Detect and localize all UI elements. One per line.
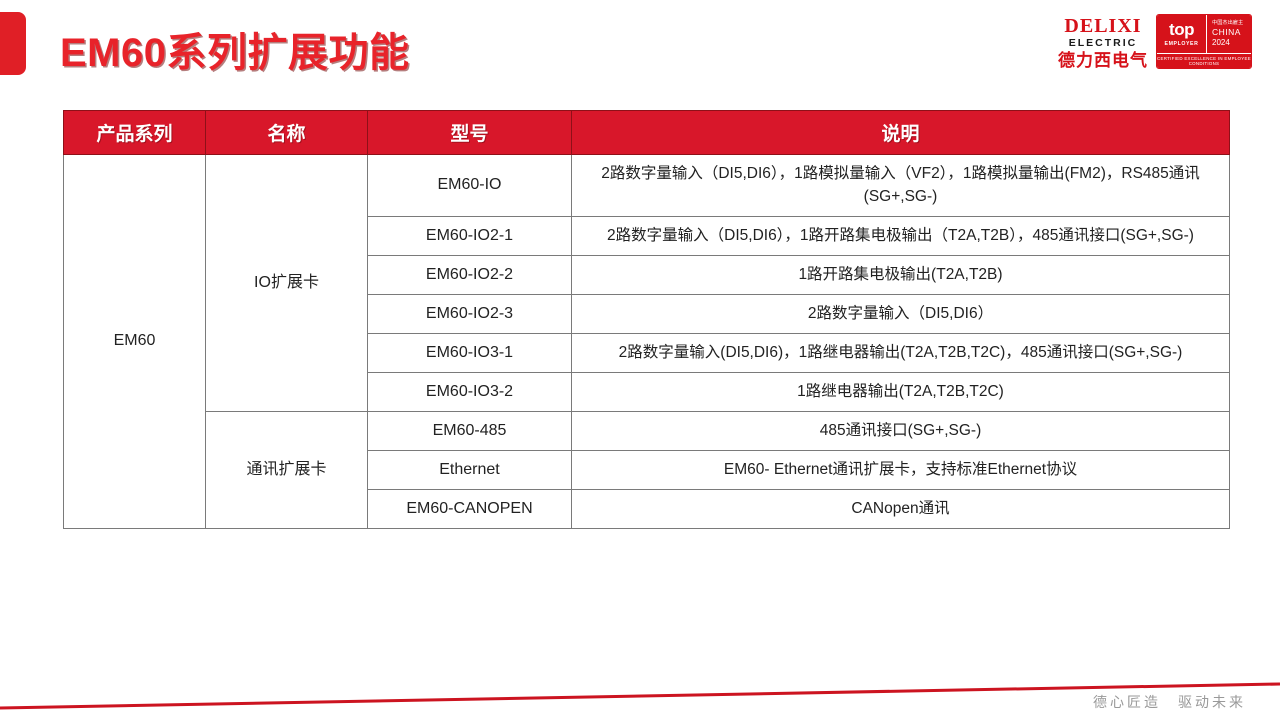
expansion-spec-table: 产品系列 名称 型号 说明 EM60 IO扩展卡 EM60-IO 2路数字量输入… (63, 110, 1230, 529)
cell-description: 485通讯接口(SG+,SG-) (572, 411, 1230, 450)
badge-year-label: 2024 (1212, 38, 1251, 48)
table-row: EM60 IO扩展卡 EM60-IO 2路数字量输入（DI5,DI6），1路模拟… (64, 155, 1230, 217)
column-header-name: 名称 (206, 111, 368, 155)
cell-model: EM60-CANOPEN (368, 489, 572, 528)
cell-description: CANopen通讯 (572, 489, 1230, 528)
cell-model: EM60-IO2-2 (368, 255, 572, 294)
cell-description: 2路数字量输入(DI5,DI6)，1路继电器输出(T2A,T2B,T2C)，48… (572, 333, 1230, 372)
table-head: 产品系列 名称 型号 说明 (64, 111, 1230, 155)
delixi-subtitle: ELECTRIC (1069, 38, 1138, 49)
cell-model: Ethernet (368, 450, 572, 489)
top-employer-badge: top EMPLOYER 中国杰出雇主 CHINA 2024 CERTIFIED… (1156, 14, 1252, 69)
cell-description: 1路开路集电极输出(T2A,T2B) (572, 255, 1230, 294)
table-header-row: 产品系列 名称 型号 说明 (64, 111, 1230, 155)
cell-description: 2路数字量输入（DI5,DI6），1路模拟量输入（VF2），1路模拟量输出(FM… (572, 155, 1230, 217)
delixi-wordmark: DELIXI (1064, 16, 1141, 36)
cell-description: 2路数字量输入（DI5,DI6） (572, 294, 1230, 333)
badge-left-panel: top EMPLOYER (1157, 15, 1207, 53)
badge-employer-label: EMPLOYER (1165, 41, 1199, 47)
title-accent-bar (0, 12, 26, 75)
cell-model: EM60-IO2-3 (368, 294, 572, 333)
cell-description: 1路继电器输出(T2A,T2B,T2C) (572, 372, 1230, 411)
slide-root: EM60系列扩展功能 DELIXI ELECTRIC 德力西电气 top EMP… (0, 0, 1280, 720)
page-title: EM60系列扩展功能 (60, 20, 410, 78)
badge-country-label: CHINA (1212, 27, 1251, 38)
column-header-desc: 说明 (572, 111, 1230, 155)
cell-model: EM60-IO3-1 (368, 333, 572, 372)
badge-top-word: top (1169, 21, 1194, 38)
cell-model: EM60-IO (368, 155, 572, 217)
cell-model: EM60-485 (368, 411, 572, 450)
cell-product-series: EM60 (64, 155, 206, 529)
badge-caption: CERTIFIED EXCELLENCE IN EMPLOYEE CONDITI… (1157, 53, 1251, 68)
cell-model: EM60-IO3-2 (368, 372, 572, 411)
table-row: 通讯扩展卡 EM60-485 485通讯接口(SG+,SG-) (64, 411, 1230, 450)
footer-slogan: 德心匠造 驱动未来 (1093, 692, 1246, 712)
table-body: EM60 IO扩展卡 EM60-IO 2路数字量输入（DI5,DI6），1路模拟… (64, 155, 1230, 529)
delixi-logo: DELIXI ELECTRIC 德力西电气 (1058, 14, 1148, 69)
cell-group-name-io: IO扩展卡 (206, 155, 368, 412)
column-header-series: 产品系列 (64, 111, 206, 155)
cell-description: EM60- Ethernet通讯扩展卡，支持标准Ethernet协议 (572, 450, 1230, 489)
badge-right-panel: 中国杰出雇主 CHINA 2024 (1207, 15, 1251, 53)
brand-logos: DELIXI ELECTRIC 德力西电气 top EMPLOYER 中国杰出雇… (1058, 14, 1252, 69)
badge-main: top EMPLOYER 中国杰出雇主 CHINA 2024 (1157, 15, 1251, 53)
footer-decoration-line (0, 660, 1280, 720)
delixi-chinese-name: 德力西电气 (1058, 52, 1148, 69)
cell-description: 2路数字量输入（DI5,DI6），1路开路集电极输出（T2A,T2B），485通… (572, 216, 1230, 255)
cell-group-name-comm: 通讯扩展卡 (206, 411, 368, 528)
column-header-model: 型号 (368, 111, 572, 155)
cell-model: EM60-IO2-1 (368, 216, 572, 255)
